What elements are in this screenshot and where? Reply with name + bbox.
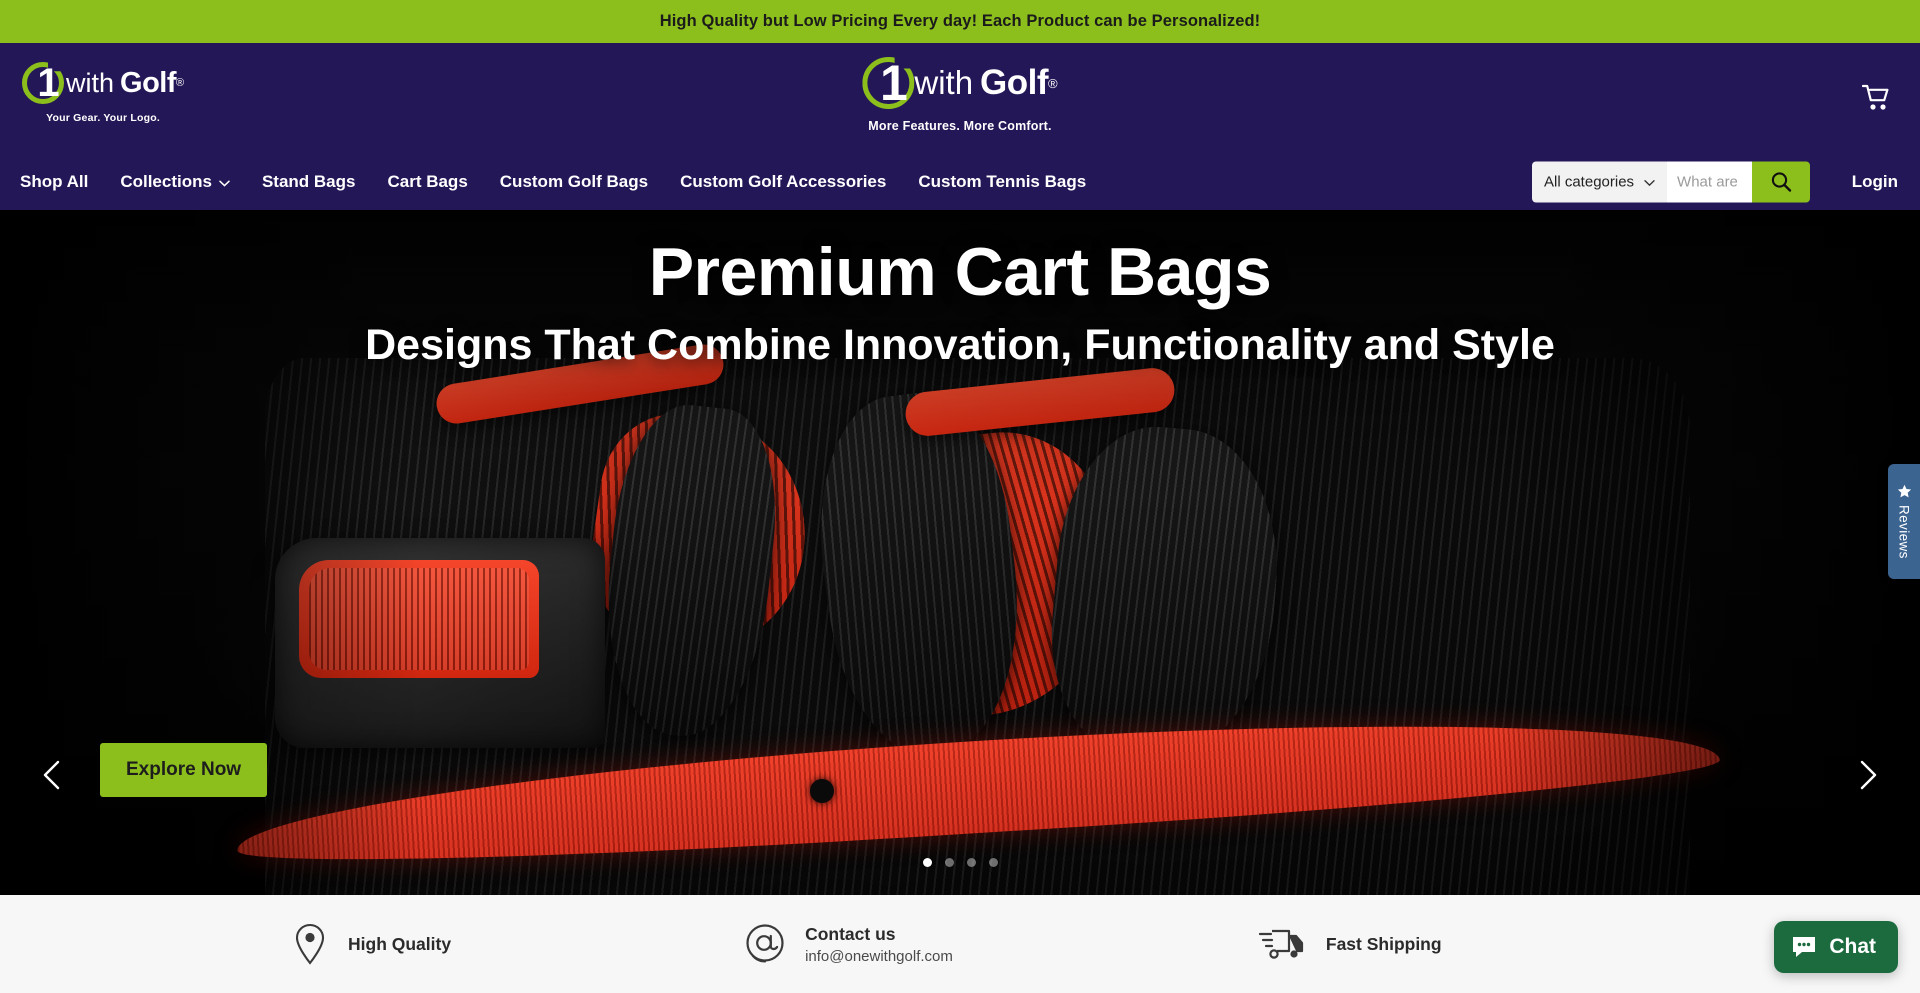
shopping-cart-icon (1862, 84, 1892, 112)
nav-item-custom-golf-accessories[interactable]: Custom Golf Accessories (664, 172, 902, 192)
announcement-bar: High Quality but Low Pricing Every day! … (0, 0, 1920, 43)
at-sign-icon (743, 922, 787, 966)
search-category-select[interactable]: All categories (1532, 161, 1667, 202)
hero-subtitle: Designs That Combine Innovation, Functio… (0, 322, 1920, 368)
golf-cart-bag-photo (265, 358, 1690, 895)
nav-label: Custom Tennis Bags (918, 172, 1086, 192)
reviews-tab[interactable]: Reviews (1888, 464, 1920, 579)
chevron-right-icon (1850, 758, 1884, 792)
search-icon (1769, 170, 1793, 194)
carousel-dot-3[interactable] (967, 858, 976, 867)
nav-item-custom-golf-bags[interactable]: Custom Golf Bags (484, 172, 664, 192)
carousel-dot-1[interactable] (923, 858, 932, 867)
carousel-next-button[interactable] (1850, 758, 1884, 792)
logo-left-numeral: 1 (37, 62, 59, 104)
carousel-dot-2[interactable] (945, 858, 954, 867)
nav-item-shop-all[interactable]: Shop All (20, 172, 104, 192)
logo-center-with: with (914, 65, 973, 101)
site-header: 1 with Golf ® Your Gear. Your Logo. 1 wi… (0, 43, 1920, 210)
logo-center-tagline: More Features. More Comfort. (868, 119, 1051, 133)
logo-left[interactable]: 1 with Golf ® Your Gear. Your Logo. (22, 60, 184, 124)
logo-left-registered: ® (176, 77, 184, 89)
nav-label: Custom Golf Bags (500, 172, 648, 192)
nav-label: Stand Bags (262, 172, 356, 192)
nav-label: Cart Bags (387, 172, 467, 192)
main-nav-row: Shop All Collections Stand Bags Cart Bag… (0, 153, 1920, 210)
hero-carousel: Premium Cart Bags Designs That Combine I… (0, 210, 1920, 895)
cart-button[interactable] (1862, 84, 1892, 112)
chat-widget-button[interactable]: Chat (1774, 921, 1898, 973)
feature-title: High Quality (348, 934, 451, 955)
feature-fast-shipping: Fast Shipping (1258, 924, 1442, 964)
search-bar: All categories (1532, 161, 1810, 202)
header-top-row: 1 with Golf ® Your Gear. Your Logo. 1 wi… (0, 43, 1920, 153)
feature-title: Contact us (805, 924, 953, 945)
map-pin-icon (290, 922, 330, 966)
logo-center-wordmark: 1 with Golf ® (862, 55, 1057, 111)
carousel-prev-button[interactable] (36, 758, 70, 792)
chevron-down-icon (1644, 173, 1655, 190)
logo-left-golf: Golf (120, 68, 176, 98)
chevron-left-icon (36, 758, 70, 792)
logo-center-numeral: 1 (880, 57, 908, 109)
logo-left-wordmark: 1 with Golf ® (22, 60, 184, 106)
carousel-dots (0, 858, 1920, 867)
feature-contact-us: Contact us info@onewithgolf.com (743, 922, 953, 966)
search-submit-button[interactable] (1752, 161, 1810, 202)
logo-left-with: with (66, 68, 114, 98)
star-icon (1897, 484, 1912, 499)
logo-left-tagline: Your Gear. Your Logo. (46, 112, 160, 124)
chat-widget-label: Chat (1829, 935, 1876, 959)
reviews-tab-label: Reviews (1897, 505, 1912, 559)
nav-label: Custom Golf Accessories (680, 172, 886, 192)
main-nav: Shop All Collections Stand Bags Cart Bag… (0, 172, 1102, 192)
nav-item-stand-bags[interactable]: Stand Bags (246, 172, 372, 192)
feature-bar: High Quality Contact us info@onewithgolf… (0, 895, 1920, 993)
nav-label: Collections (120, 172, 212, 192)
chat-bubble-icon (1790, 933, 1818, 961)
explore-now-button[interactable]: Explore Now (100, 743, 267, 797)
logo-center-golf: Golf (980, 65, 1048, 101)
carousel-dot-4[interactable] (989, 858, 998, 867)
announcement-text: High Quality but Low Pricing Every day! … (660, 12, 1261, 31)
nav-item-custom-tennis-bags[interactable]: Custom Tennis Bags (902, 172, 1102, 192)
logo-ring-icon: 1 (862, 55, 912, 111)
feature-high-quality: High Quality (290, 922, 451, 966)
chevron-down-icon (219, 172, 230, 192)
logo-center-registered: ® (1048, 76, 1058, 91)
hero-title: Premium Cart Bags (0, 238, 1920, 306)
search-category-label: All categories (1544, 173, 1634, 190)
nav-item-collections[interactable]: Collections (104, 172, 246, 192)
logo-ring-icon: 1 (22, 60, 64, 106)
nav-label: Shop All (20, 172, 88, 192)
feature-subtitle: info@onewithgolf.com (805, 948, 953, 965)
hero-copy: Premium Cart Bags Designs That Combine I… (0, 238, 1920, 368)
nav-item-cart-bags[interactable]: Cart Bags (371, 172, 483, 192)
feature-title: Fast Shipping (1326, 934, 1442, 955)
login-link[interactable]: Login (1852, 172, 1898, 192)
delivery-truck-icon (1258, 924, 1308, 964)
search-input[interactable] (1667, 161, 1752, 202)
logo-center[interactable]: 1 with Golf ® More Features. More Comfor… (862, 55, 1057, 133)
